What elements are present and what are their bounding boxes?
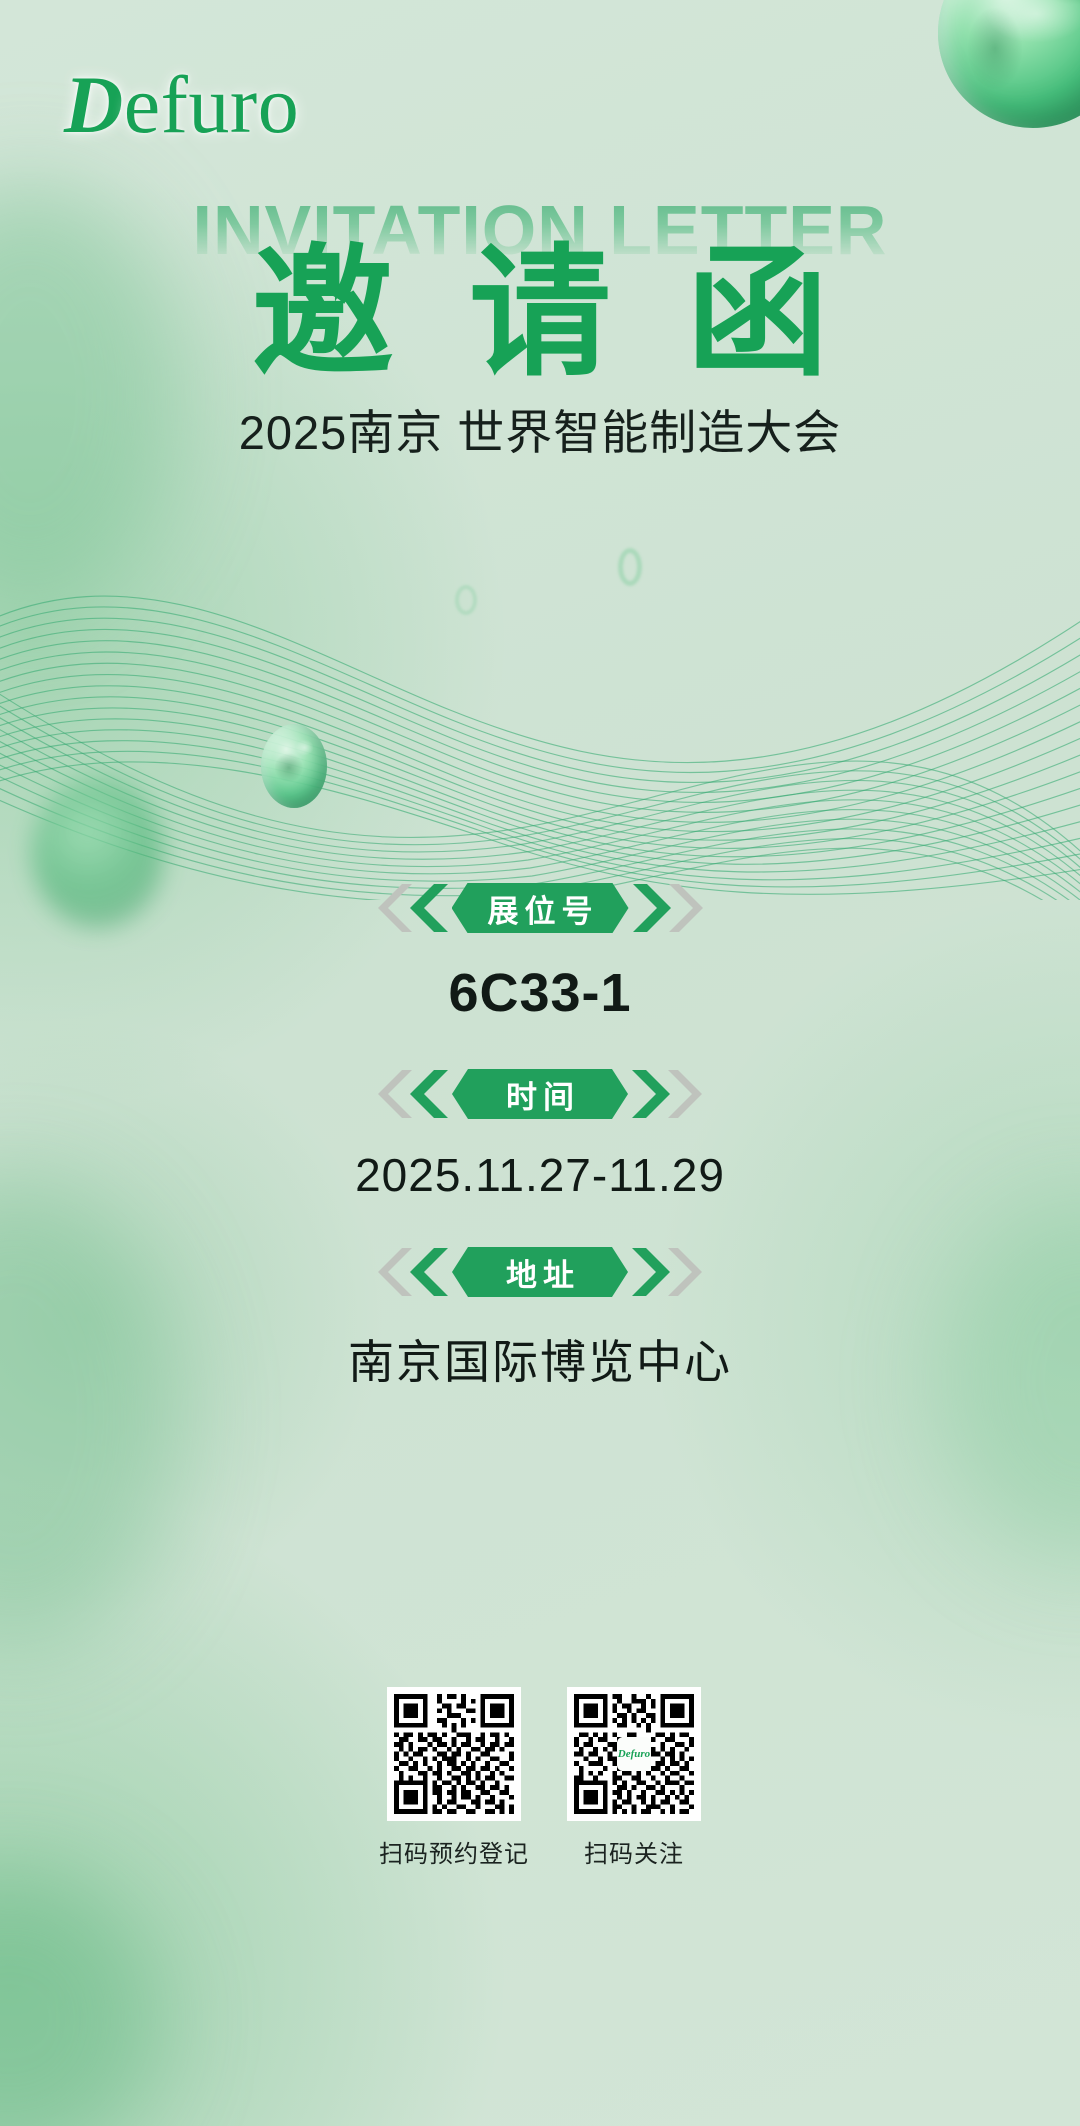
badge-row: 地址 [0,1244,1080,1300]
qr-center-logo: Defuro [617,1737,651,1771]
qr-code-follow[interactable]: Defuro [567,1687,701,1821]
headline-block: INVITATION LETTER 邀 请 函 2025南京 世界智能制造大会 [0,195,1080,463]
qr-item-follow[interactable]: Defuro 扫码关注 [567,1687,701,1869]
info-value-address: 南京国际博览中心 [0,1326,1080,1392]
qr-code-section: 扫码预约登记 [0,1687,1080,1869]
info-value-time: 2025.11.27-11.29 [0,1148,1080,1202]
logo-initial: D [64,59,124,150]
badge-label-address: 地址 [452,1247,628,1297]
badge-label-booth: 展位号 [452,883,629,933]
info-section: 展位号 6C33-1 时间 2025.11.27-11. [0,880,1080,1434]
glass-globe-icon [938,0,1080,128]
chevron-right-icon [624,1244,708,1300]
chevron-right-icon [624,1066,708,1122]
invitation-poster: Defuro INVITATION LETTER 邀 请 函 2025南京 世界… [0,0,1080,2126]
qr-code-registration[interactable] [387,1687,521,1821]
decorative-blob-bottom [0,1870,160,2126]
ring-decoration-b [455,585,477,615]
qr-caption-follow: 扫码关注 [584,1834,684,1869]
chevron-left-icon [372,1244,456,1300]
qr-code-image [394,1694,514,1814]
page-title: 邀 请 函 [0,237,1080,390]
glass-globe-small-icon [261,724,327,808]
logo-rest: efuro [124,59,300,150]
qr-caption-registration: 扫码预约登记 [379,1834,529,1869]
chevron-right-icon [625,880,709,936]
badge-row: 展位号 [0,880,1080,936]
badge-label-time: 时间 [452,1069,628,1119]
qr-item-registration[interactable]: 扫码预约登记 [379,1687,529,1869]
chevron-left-icon [372,880,456,936]
badge-row: 时间 [0,1066,1080,1122]
info-block-booth: 展位号 6C33-1 [0,880,1080,1024]
page-subtitle: 2025南京 世界智能制造大会 [0,394,1080,463]
info-value-booth: 6C33-1 [0,962,1080,1024]
ring-decoration-a [618,548,642,586]
chevron-left-icon [372,1066,456,1122]
brand-logo: Defuro [64,64,299,146]
info-block-time: 时间 2025.11.27-11.29 [0,1066,1080,1202]
info-block-address: 地址 南京国际博览中心 [0,1244,1080,1392]
